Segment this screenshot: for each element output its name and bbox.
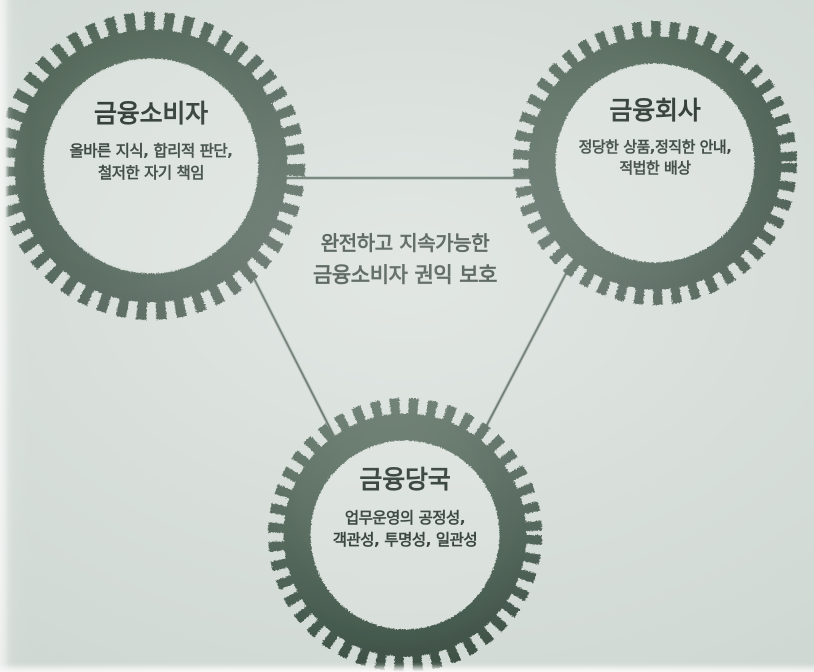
diagram-graphics — [0, 0, 814, 672]
connector-lines — [243, 178, 572, 444]
connector-company-authority — [477, 262, 572, 444]
diagram-canvas: 금융소비자 올바른 지식, 합리적 판단, 철저한 자기 책임 금융회사 정당한… — [0, 0, 814, 672]
connector-consumer-authority — [243, 257, 337, 442]
ring-consumer — [19, 34, 283, 298]
ring-company — [533, 41, 777, 285]
ring-authority — [288, 418, 522, 652]
